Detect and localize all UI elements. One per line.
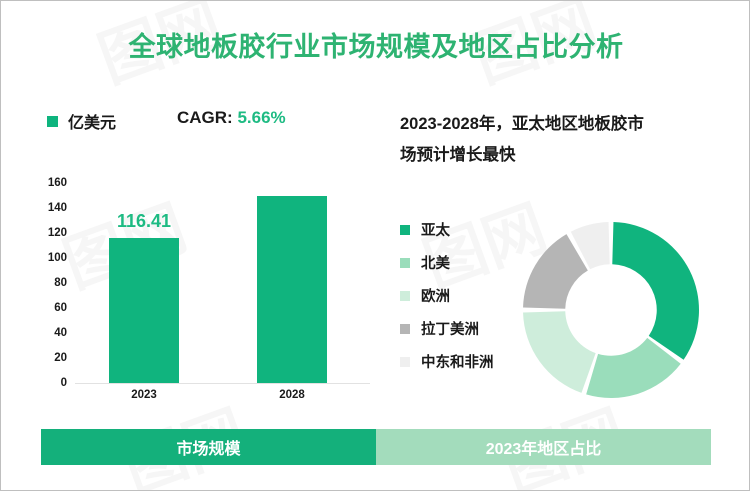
tab-1[interactable]: 2023年地区占比 [376, 429, 711, 465]
tab-bar: 市场规模2023年地区占比 [41, 429, 711, 465]
pie-legend: 亚太北美欧洲拉丁美洲中东和非洲 [400, 213, 494, 378]
pie-legend-label: 亚太 [421, 219, 450, 240]
subheading: 2023-2028年，亚太地区地板胶市 场预计增长最快 [400, 109, 720, 171]
cagr-prefix: CAGR: [177, 108, 237, 127]
pie-legend-item-3[interactable]: 拉丁美洲 [400, 312, 494, 345]
subheading-line-2: 场预计增长最快 [400, 140, 720, 171]
donut-slice-亚太[interactable] [612, 222, 699, 360]
y-axis-tick: 40 [25, 327, 67, 339]
bar-value-label: 116.41 [99, 211, 189, 232]
bar-chart: 020406080100120140160 116.41 20232028 [25, 173, 370, 411]
y-axis-tick: 20 [25, 352, 67, 364]
bar-2023[interactable] [109, 238, 179, 384]
legend-swatch-icon [400, 357, 410, 367]
y-axis-tick: 80 [25, 277, 67, 289]
cagr-annotation: CAGR: 5.66% [177, 108, 286, 128]
tab-label: 2023年地区占比 [486, 435, 602, 459]
page-title: 全球地板胶行业市场规模及地区占比分析 [1, 25, 750, 64]
donut-chart [521, 220, 701, 400]
cagr-value: 5.66% [237, 108, 285, 127]
subheading-line-1: 2023-2028年，亚太地区地板胶市 [400, 109, 720, 140]
unit-legend: 亿美元 [47, 109, 116, 133]
y-axis-tick: 100 [25, 252, 67, 264]
x-axis-tick: 2028 [247, 389, 337, 401]
bar-2028[interactable] [257, 196, 327, 384]
pie-legend-label: 北美 [421, 252, 450, 273]
pie-legend-item-0[interactable]: 亚太 [400, 213, 494, 246]
y-axis: 020406080100120140160 [25, 173, 67, 383]
legend-swatch-icon [400, 291, 410, 301]
legend-swatch-icon [400, 258, 410, 268]
y-axis-tick: 60 [25, 302, 67, 314]
y-axis-tick: 120 [25, 227, 67, 239]
pie-legend-item-1[interactable]: 北美 [400, 246, 494, 279]
tab-label: 市场规模 [176, 435, 240, 459]
x-axis: 20232028 [75, 389, 370, 409]
legend-swatch-icon [400, 324, 410, 334]
pie-legend-label: 中东和非洲 [421, 351, 494, 372]
pie-legend-label: 欧洲 [421, 285, 450, 306]
infographic-root: 图网 图网 图网 图网 图网 图网 全球地板胶行业市场规模及地区占比分析 亿美元… [0, 0, 750, 491]
x-axis-tick: 2023 [99, 389, 189, 401]
bar-plot-area: 116.41 [75, 183, 370, 384]
y-axis-tick: 140 [25, 202, 67, 214]
y-axis-tick: 0 [25, 377, 67, 389]
tab-0[interactable]: 市场规模 [41, 429, 376, 465]
legend-swatch-icon [400, 225, 410, 235]
donut-slice-欧洲[interactable] [523, 311, 596, 393]
pie-legend-label: 拉丁美洲 [421, 318, 479, 339]
y-axis-tick: 160 [25, 177, 67, 189]
unit-legend-label: 亿美元 [68, 109, 116, 133]
pie-legend-item-2[interactable]: 欧洲 [400, 279, 494, 312]
pie-legend-item-4[interactable]: 中东和非洲 [400, 345, 494, 378]
legend-swatch-icon [47, 116, 58, 127]
